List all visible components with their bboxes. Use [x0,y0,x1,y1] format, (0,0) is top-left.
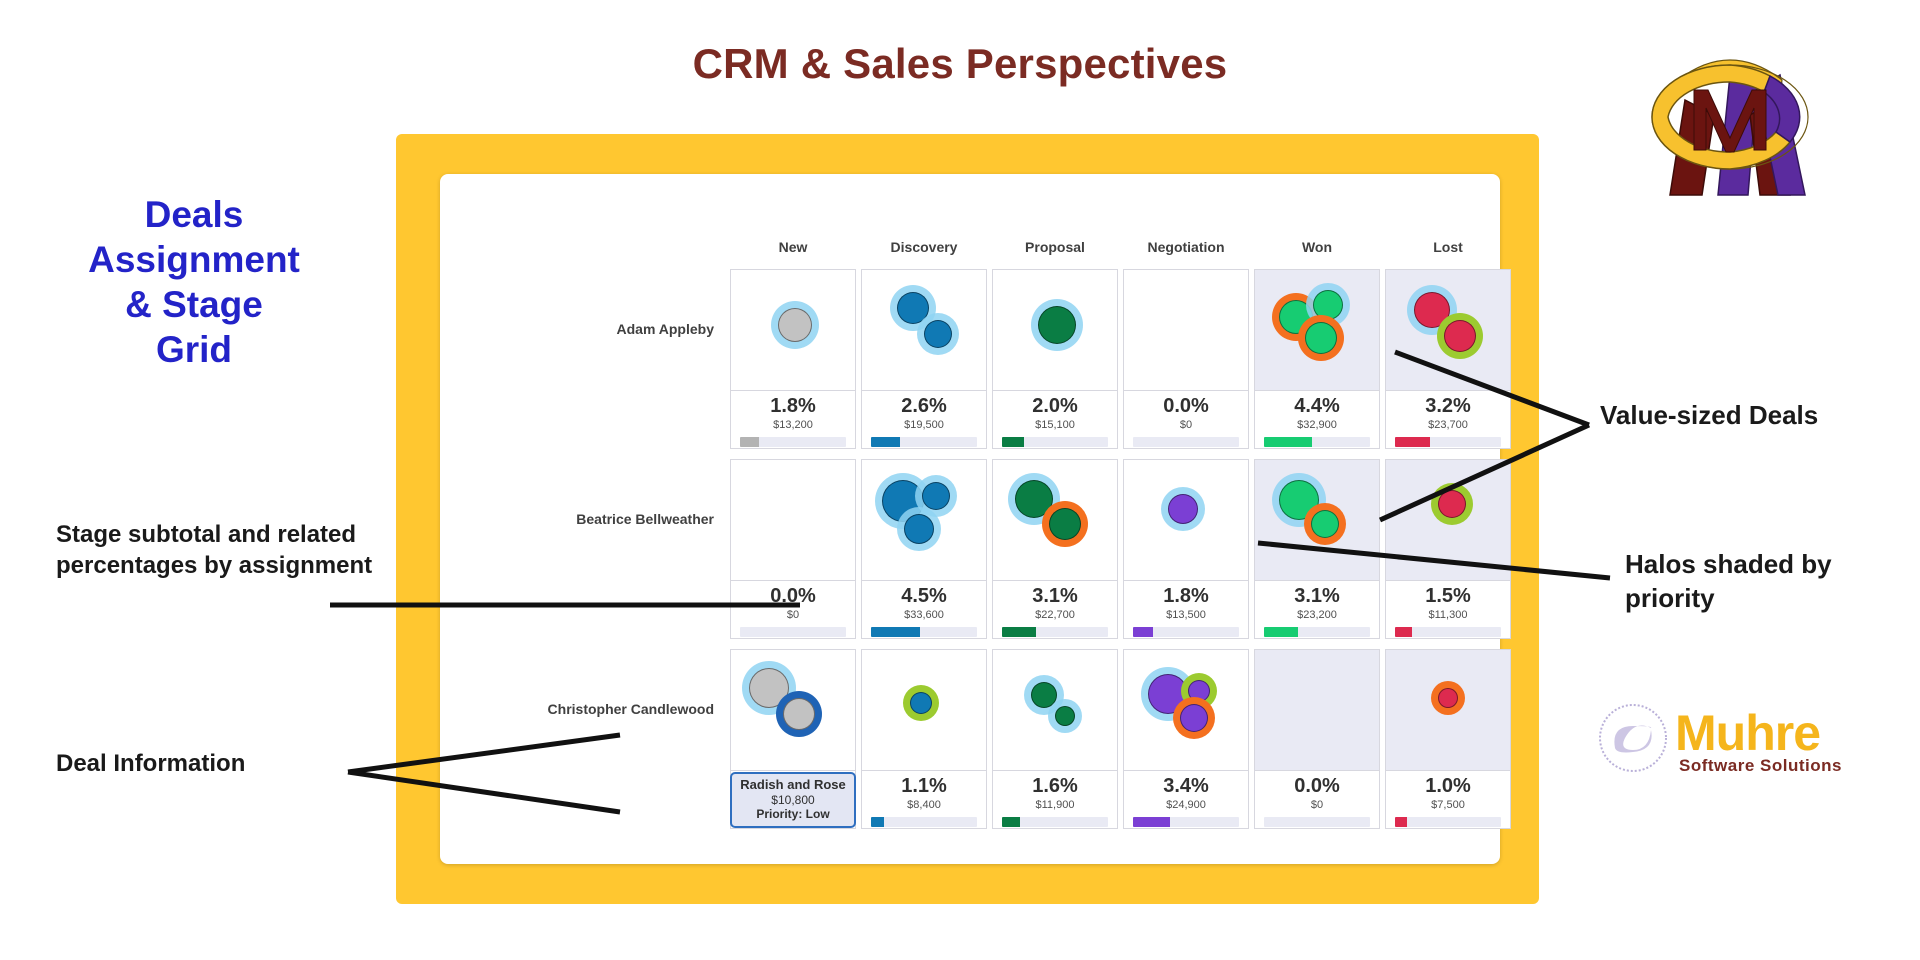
stage-subtotal: 3.4%$24,900 [1123,771,1249,829]
deal-bubble[interactable] [1055,706,1075,726]
stage-cell-lost[interactable] [1385,459,1511,581]
stage-header-negotiation: Negotiation [1123,239,1249,255]
subtotal-bar [1264,437,1370,447]
deal-bubble[interactable] [1305,322,1337,354]
muhre-swirl-icon [1595,700,1671,776]
grid-card: NewDiscoveryProposalNegotiationWonLostAd… [440,174,1500,864]
subtotal-percent: 3.1% [993,586,1117,606]
subtotal-amount: $7,500 [1386,800,1510,811]
subtotal-amount: $0 [1124,420,1248,431]
stage-subtotal: 1.8%$13,500 [1123,581,1249,639]
subtotal-percent: 3.2% [1386,396,1510,416]
stage-cell-proposal[interactable] [992,459,1118,581]
stage-cell-new[interactable] [730,459,856,581]
stage-subtotal: 0.0%$0 [1123,391,1249,449]
subtotal-bar-fill [1395,817,1407,827]
callout-deal-information: Deal Information [56,750,386,778]
subtotal-amount: $19,500 [862,420,986,431]
subtotal-bar-fill [1264,627,1298,637]
subtotal-percent: 1.0% [1386,776,1510,796]
stage-cell-won[interactable] [1254,459,1380,581]
stage-cell-discovery[interactable] [861,269,987,391]
subtotal-bar [1395,437,1501,447]
callout-value-sized-deals: Value-sized Deals [1600,400,1900,431]
mr-monogram-logo [1630,20,1830,205]
subtotal-bar [871,817,977,827]
subtotal-amount: $11,900 [993,800,1117,811]
stage-cell-won[interactable] [1254,649,1380,771]
stage-subtotal: 1.1%$8,400 [861,771,987,829]
stage-cell-proposal[interactable] [992,269,1118,391]
stage-subtotal: 1.8%$13,200 [730,391,856,449]
subtotal-bar [1133,437,1239,447]
deal-bubble[interactable] [1438,490,1466,518]
subtotal-amount: $8,400 [862,800,986,811]
subtotal-bar [1002,627,1108,637]
subtotal-bar-fill [1002,817,1020,827]
bubble-area [731,460,857,582]
bubble-area [862,460,988,582]
callout-deals-title-line: Deals [44,192,344,237]
subtotal-bar [1133,817,1239,827]
subtotal-percent: 1.8% [1124,586,1248,606]
subtotal-percent: 0.0% [1124,396,1248,416]
subtotal-bar [871,627,977,637]
bubble-area [1386,460,1512,582]
stage-cell-lost[interactable] [1385,649,1511,771]
deal-bubble[interactable] [1038,306,1076,344]
subtotal-bar-fill [1264,437,1312,447]
stage-subtotal: 3.1%$23,200 [1254,581,1380,639]
bubble-area [731,270,857,392]
callout-deals-title: DealsAssignment& StageGrid [44,192,344,373]
stage-cell-negotiation[interactable] [1123,269,1249,391]
bubble-area [993,270,1119,392]
deal-bubble[interactable] [1180,704,1208,732]
subtotal-percent: 4.4% [1255,396,1379,416]
subtotal-percent: 2.6% [862,396,986,416]
stage-cell-negotiation[interactable] [1123,649,1249,771]
subtotal-bar [1395,627,1501,637]
bubble-area [993,460,1119,582]
tooltip-deal-amount: $10,800 [732,793,854,807]
stage-cell-new[interactable] [730,269,856,391]
stage-cell-won[interactable] [1254,269,1380,391]
stage-subtotal: 0.0%$0 [1254,771,1380,829]
subtotal-percent: 3.1% [1255,586,1379,606]
subtotal-bar-fill [1002,437,1024,447]
subtotal-percent: 4.5% [862,586,986,606]
subtotal-amount: $13,500 [1124,610,1248,621]
subtotal-percent: 3.4% [1124,776,1248,796]
callout-halos-shaded: Halos shaded by priority [1625,548,1885,616]
subtotal-percent: 1.1% [862,776,986,796]
bubble-area [1386,270,1512,392]
deal-bubble[interactable] [910,692,932,714]
subtotal-bar-fill [1395,627,1412,637]
subtotal-bar [871,437,977,447]
stage-subtotal: 3.1%$22,700 [992,581,1118,639]
subtotal-bar-fill [1133,627,1153,637]
subtotal-percent: 0.0% [731,586,855,606]
stage-header-proposal: Proposal [992,239,1118,255]
assignee-label: Adam Appleby [534,321,714,337]
subtotal-amount: $15,100 [993,420,1117,431]
subtotal-bar [740,627,846,637]
tooltip-deal-priority: Priority: Low [732,807,854,821]
subtotal-bar [1002,437,1108,447]
subtotal-bar [1002,817,1108,827]
bubble-area [731,650,857,772]
stage-cell-proposal[interactable] [992,649,1118,771]
bubble-area [1255,650,1381,772]
bubble-area [1124,270,1250,392]
bubble-area [1255,270,1381,392]
stage-cell-lost[interactable] [1385,269,1511,391]
subtotal-percent: 1.8% [731,396,855,416]
bubble-area [1255,460,1381,582]
stage-header-new: New [730,239,856,255]
subtotal-bar [1395,817,1501,827]
bubble-area [993,650,1119,772]
deal-bubble[interactable] [1168,494,1198,524]
bubble-area [862,270,988,392]
subtotal-bar-fill [871,817,884,827]
deal-bubble[interactable] [1444,320,1476,352]
stage-cell-discovery[interactable] [861,649,987,771]
deal-bubble[interactable] [924,320,952,348]
subtotal-amount: $0 [1255,800,1379,811]
subtotal-bar-fill [740,437,759,447]
bubble-area [1386,650,1512,772]
stage-header-discovery: Discovery [861,239,987,255]
deal-bubble[interactable] [904,514,934,544]
deal-bubble[interactable] [778,308,812,342]
stage-subtotal: 4.5%$33,600 [861,581,987,639]
subtotal-amount: $32,900 [1255,420,1379,431]
stage-subtotal: 1.5%$11,300 [1385,581,1511,639]
bubble-area [1124,460,1250,582]
bubble-area [862,650,988,772]
stage-subtotal: 3.2%$23,700 [1385,391,1511,449]
callout-deals-title-line: Assignment [44,237,344,282]
subtotal-amount: $33,600 [862,610,986,621]
subtotal-bar-fill [1133,817,1170,827]
subtotal-amount: $22,700 [993,610,1117,621]
subtotal-bar-fill [1002,627,1036,637]
subtotal-bar [1264,627,1370,637]
callout-deals-title-line: Grid [44,327,344,372]
subtotal-bar-fill [1395,437,1430,447]
subtotal-amount: $23,200 [1255,610,1379,621]
stage-subtotal: 4.4%$32,900 [1254,391,1380,449]
subtotal-amount: $24,900 [1124,800,1248,811]
subtotal-percent: 0.0% [1255,776,1379,796]
subtotal-percent: 1.5% [1386,586,1510,606]
subtotal-amount: $23,700 [1386,420,1510,431]
subtotal-amount: $11,300 [1386,610,1510,621]
muhre-tagline: Software Solutions [1679,756,1842,776]
stage-subtotal: 0.0%$0 [730,581,856,639]
stage-subtotal: 1.6%$11,900 [992,771,1118,829]
callout-deals-title-line: & Stage [44,282,344,327]
stage-cell-discovery[interactable] [861,459,987,581]
deals-stage-grid[interactable]: NewDiscoveryProposalNegotiationWonLostAd… [520,199,1425,814]
muhre-wordmark: Muhre [1675,704,1820,762]
assignee-label: Beatrice Bellweather [534,511,714,527]
subtotal-bar-fill [871,627,920,637]
deal-bubble[interactable] [783,698,815,730]
deal-bubble[interactable] [1438,688,1458,708]
deal-bubble[interactable] [922,482,950,510]
deal-bubble[interactable] [1311,510,1339,538]
subtotal-percent: 1.6% [993,776,1117,796]
subtotal-amount: $13,200 [731,420,855,431]
subtotal-amount: $0 [731,610,855,621]
stage-cell-new[interactable] [730,649,856,771]
stage-header-lost: Lost [1385,239,1511,255]
muhre-logo: Muhre Software Solutions [1595,700,1895,790]
callout-stage-subtotal: Stage subtotal and related percentages b… [56,520,386,581]
stage-subtotal: 2.6%$19,500 [861,391,987,449]
bubble-area [1124,650,1250,772]
deal-bubble[interactable] [1049,508,1081,540]
subtotal-bar-fill [871,437,900,447]
stage-header-won: Won [1254,239,1380,255]
stage-subtotal: 2.0%$15,100 [992,391,1118,449]
subtotal-percent: 2.0% [993,396,1117,416]
subtotal-bar [1133,627,1239,637]
slide-frame: NewDiscoveryProposalNegotiationWonLostAd… [396,134,1539,904]
deal-information-tooltip[interactable]: Radish and Rose$10,800Priority: Low [730,772,856,828]
stage-cell-negotiation[interactable] [1123,459,1249,581]
assignee-label: Christopher Candlewood [534,701,714,717]
stage-subtotal: 1.0%$7,500 [1385,771,1511,829]
subtotal-bar [1264,817,1370,827]
tooltip-deal-name: Radish and Rose [732,778,854,793]
subtotal-bar [740,437,846,447]
